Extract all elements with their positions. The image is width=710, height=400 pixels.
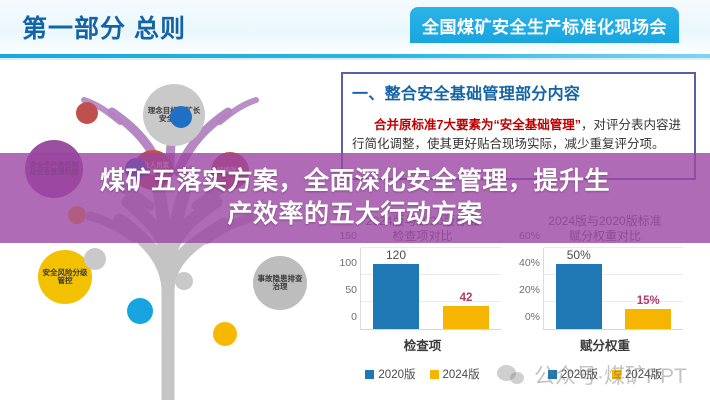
content-body: 合并原标准7大要素为“安全基础管理”，对评分表内容进行简化调整，使其更好贴合现场…: [352, 116, 685, 155]
bar-value-label-2024: 15%: [637, 295, 660, 307]
y-axis-tick: 0: [351, 311, 357, 323]
y-axis-tick: 100: [339, 257, 357, 269]
tree-node-hazard-investigation-label: 事故隐患排查治理: [253, 275, 307, 291]
y-axis-tick: 40%: [519, 257, 540, 269]
chart-score-weight-bars: 50% 15%: [544, 248, 683, 329]
legend-key-2024: 2024版: [612, 366, 662, 382]
chart-inspection-items-legend: 2020版 2024版: [330, 366, 515, 382]
bar-value-label-2020: 120: [386, 248, 406, 262]
overlay-title-line-1: 煤矿五落实方案，全面深化安全管理，提升生: [100, 165, 610, 198]
bar-value-label-2024: 42: [460, 292, 473, 304]
chart-inspection-items-category-label: 检查项: [330, 335, 515, 354]
legend-label-2020: 2020版: [378, 366, 415, 382]
content-heading: 一、整合安全基础管理部分内容: [352, 80, 685, 104]
legend-key-2020: 2020版: [365, 366, 415, 382]
tree-decoration-dot-7: [170, 106, 192, 128]
bar-column-2024: 15%: [625, 248, 671, 329]
content-body-tail: 少重复评分项。: [577, 137, 665, 151]
bar-column-2020: 120: [373, 248, 419, 329]
chart-inspection-items-bars: 120 42: [361, 248, 501, 329]
chart-inspection-items-plot: 150 100 50 0 120 42: [360, 248, 501, 330]
bar-value-label-2020: 50%: [567, 248, 591, 262]
legend-swatch-2024-icon: [612, 370, 621, 379]
chart-score-weight-plot: 60% 40% 20% 0% 50% 15%: [543, 248, 683, 330]
content-body-strong: 合并原标准7大要素为“安全基础管理”: [374, 118, 581, 132]
y-axis-tick: 0%: [525, 311, 540, 323]
bar-2020: [373, 264, 419, 329]
bar-column-2020: 50%: [556, 248, 602, 329]
legend-label-2020: 2020版: [561, 366, 598, 382]
slide-canvas: 第一部分 总则 全国煤矿安全生产标准化现场会: [0, 0, 710, 400]
y-axis-tick: 50: [345, 284, 357, 296]
tree-decoration-dot-1: [84, 248, 106, 270]
legend-swatch-2020-icon: [548, 370, 557, 379]
legend-swatch-2024-icon: [430, 370, 439, 379]
legend-key-2020: 2020版: [548, 366, 598, 382]
tree-decoration-dot-2: [175, 272, 193, 290]
chart-score-weight-legend: 2020版 2024版: [505, 366, 705, 382]
bar-2020: [556, 264, 602, 329]
tree-decoration-dot-3: [127, 298, 153, 324]
tree-node-hazard-investigation: 事故隐患排查治理: [253, 256, 307, 310]
legend-label-2024: 2024版: [625, 366, 662, 382]
tree-decoration-dot-6: [76, 102, 98, 124]
legend-swatch-2020-icon: [365, 370, 374, 379]
bar-column-2024: 42: [443, 248, 489, 329]
bar-2024: [443, 306, 489, 329]
chart-score-weight-category-label: 赋分权重: [505, 335, 705, 354]
y-axis-tick: 20%: [519, 284, 540, 296]
bar-2024: [625, 309, 671, 329]
tree-decoration-dot-4: [213, 322, 237, 346]
overlay-title-line-2: 产效率的五大行动方案: [227, 198, 482, 231]
conference-name-tab: 全国煤矿安全生产标准化现场会: [410, 7, 679, 43]
legend-label-2024: 2024版: [443, 366, 480, 382]
title-overlay-banner: 煤矿五落实方案，全面深化安全管理，提升生 产效率的五大行动方案: [0, 153, 710, 243]
tree-node-risk-grading-control-label: 安全风险分级管控: [38, 269, 92, 285]
legend-key-2024: 2024版: [430, 366, 480, 382]
page-title: 第一部分 总则: [22, 9, 186, 45]
